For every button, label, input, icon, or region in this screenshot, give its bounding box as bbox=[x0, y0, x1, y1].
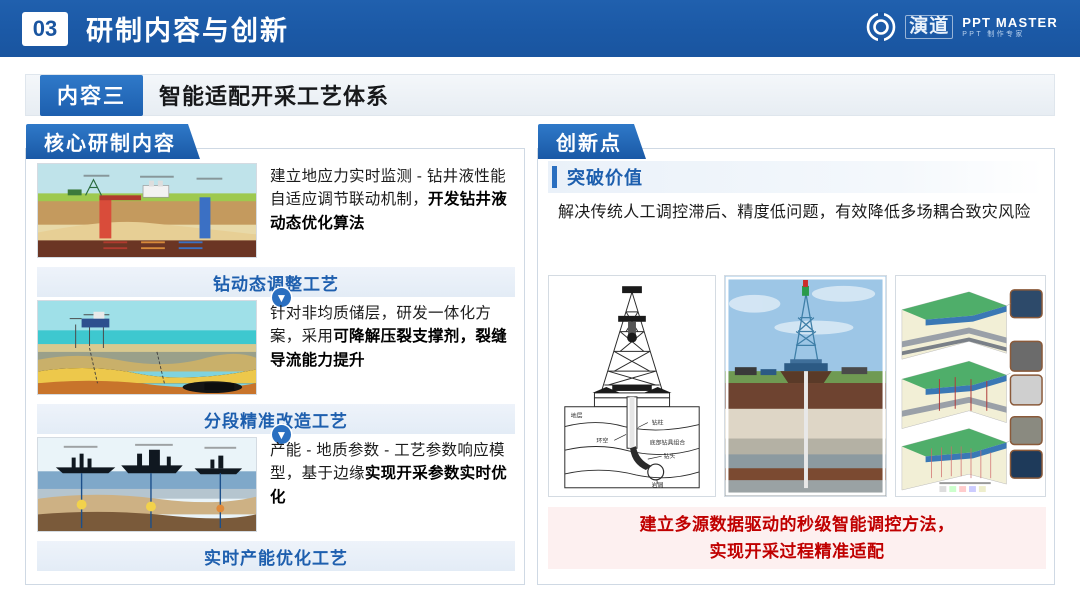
row-text: 建立地应力实时监测 - 钻井液性能自适应调节联动机制，开发钻井液动态优化算法 bbox=[270, 163, 515, 235]
logo-english-sub: PPT 制作专家 bbox=[962, 31, 1058, 38]
svg-text:钻头: 钻头 bbox=[664, 452, 676, 460]
row-text: 产能 - 地质参数 - 工艺参数响应模型，基于边缘实现开采参数实时优化 bbox=[270, 437, 515, 509]
left-panel-tab: 核心研制内容 bbox=[26, 124, 200, 159]
breakthrough-subheader: 突破价值 bbox=[548, 161, 1044, 193]
logo-english-block: PPT MASTER PPT 制作专家 bbox=[962, 16, 1058, 39]
logo-chinese-name: 演道 bbox=[905, 15, 953, 39]
svg-text:岩屑: 岩屑 bbox=[652, 481, 664, 489]
row-text: 针对非均质储层，研发一体化方案，采用可降解压裂支撑剂，裂缝导流能力提升 bbox=[270, 300, 515, 372]
subheader-accent-bar bbox=[552, 166, 557, 188]
subheader-label: 突破价值 bbox=[567, 164, 643, 190]
geostress-monitoring-diagram bbox=[37, 163, 257, 258]
banner-tag: 内容三 bbox=[40, 75, 143, 116]
svg-text:环空: 环空 bbox=[596, 436, 608, 444]
content-row: 建立地应力实时监测 - 钻井液性能自适应调节联动机制，开发钻井液动态优化算法 bbox=[37, 163, 515, 260]
content-row: 产能 - 地质参数 - 工艺参数响应模型，基于边缘实现开采参数实时优化 bbox=[37, 437, 515, 534]
content-banner: 内容三 智能适配开采工艺体系 bbox=[25, 74, 1055, 116]
svg-text:底部钻具组合: 底部钻具组合 bbox=[650, 438, 686, 446]
multi-platform-drilling-diagram bbox=[37, 437, 257, 532]
innovation-images: 地层 钻柱 环空 底部钻具组合 钻头 岩屑 bbox=[548, 275, 1046, 497]
slide-header: 03 研制内容与创新 演道 PPT MASTER PPT 制作专家 bbox=[0, 0, 1080, 57]
left-panel: 核心研制内容 bbox=[25, 148, 525, 585]
conclusion-line-2: 实现开采过程精准适配 bbox=[710, 538, 885, 565]
brand-logo: 演道 PPT MASTER PPT 制作专家 bbox=[866, 12, 1058, 42]
right-panel: 创新点 突破价值 解决传统人工调控滞后、精度低问题，有效降低多场耦合致灾风险 bbox=[537, 148, 1055, 585]
slide-root: 03 研制内容与创新 演道 PPT MASTER PPT 制作专家 内容三 智能… bbox=[0, 0, 1080, 607]
drilling-rig-photo bbox=[724, 275, 887, 497]
logo-circle-icon bbox=[866, 12, 896, 42]
right-panel-tab: 创新点 bbox=[538, 124, 646, 159]
section-number: 03 bbox=[22, 12, 68, 46]
drilling-rig-schematic: 地层 钻柱 环空 底部钻具组合 钻头 岩屑 bbox=[548, 275, 716, 497]
conclusion-box: 建立多源数据驱动的秒级智能调控方法， 实现开采过程精准适配 bbox=[548, 507, 1046, 569]
process-label-3: 实时产能优化工艺 bbox=[37, 541, 515, 571]
breakthrough-paragraph: 解决传统人工调控滞后、精度低问题，有效降低多场耦合致灾风险 bbox=[558, 201, 1038, 226]
offshore-reservoir-diagram bbox=[37, 300, 257, 395]
svg-text:地层: 地层 bbox=[571, 412, 583, 420]
logo-english-main: PPT MASTER bbox=[962, 16, 1058, 30]
conclusion-line-1: 建立多源数据驱动的秒级智能调控方法， bbox=[640, 511, 955, 538]
page-title: 研制内容与创新 bbox=[86, 9, 289, 48]
svg-text:钻柱: 钻柱 bbox=[652, 419, 664, 427]
content-row: 针对非均质储层，研发一体化方案，采用可降解压裂支撑剂，裂缝导流能力提升 bbox=[37, 300, 515, 397]
banner-title: 智能适配开采工艺体系 bbox=[159, 79, 389, 111]
3d-geological-model bbox=[895, 275, 1046, 497]
